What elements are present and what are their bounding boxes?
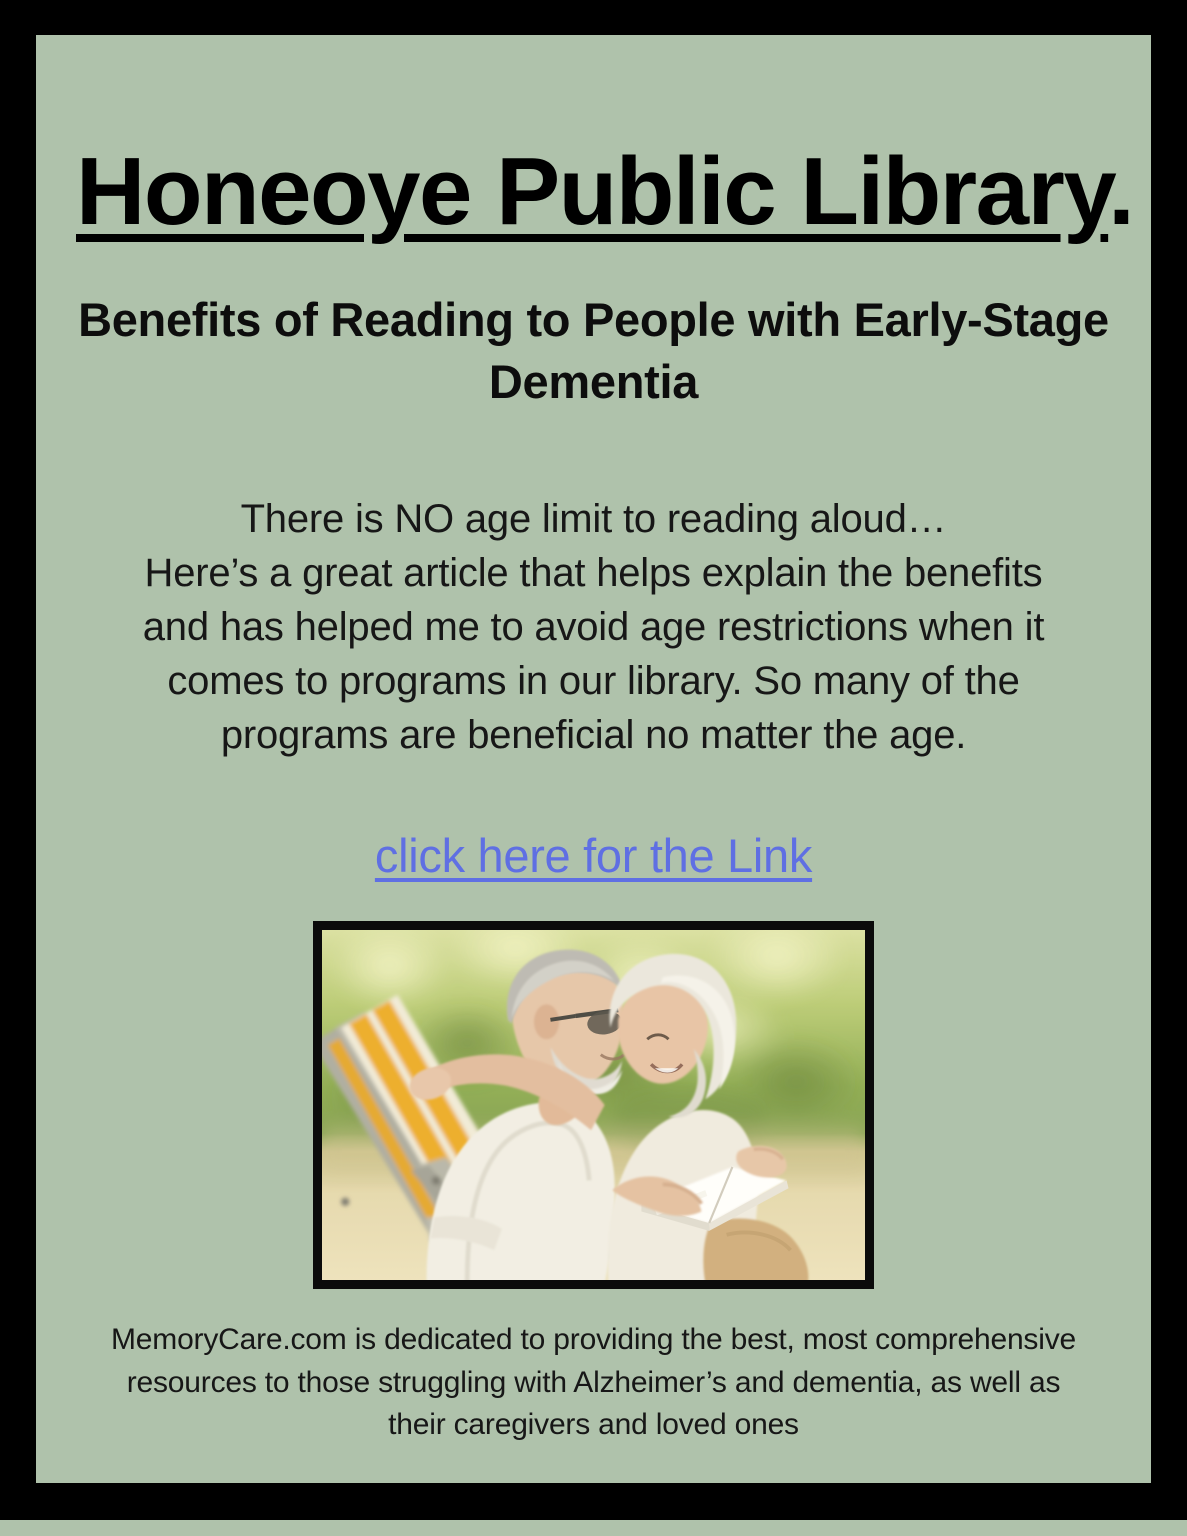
footer-line-3: their caregivers and loved ones [92, 1404, 1095, 1447]
page-title-main: Honeoye Public Library [76, 138, 1108, 245]
bottom-sage-strip [0, 1520, 1187, 1536]
flyer-content-sheet: Honeoye Public Library. Benefits of Read… [36, 35, 1151, 1483]
cta-link-wrapper: click here for the Link [76, 828, 1111, 883]
body-line-2: Here’s a great article that helps explai… [76, 546, 1111, 600]
couple-reading-photo [322, 930, 865, 1280]
footer-attribution: MemoryCare.com is dedicated to providing… [76, 1319, 1111, 1447]
photo-frame [313, 921, 874, 1289]
article-link[interactable]: click here for the Link [375, 828, 812, 883]
page-subtitle: Benefits of Reading to People with Early… [76, 289, 1111, 414]
body-line-5: programs are beneficial no matter the ag… [76, 708, 1111, 762]
body-paragraph: There is NO age limit to reading aloud… … [76, 492, 1111, 762]
page-title-period: . [1108, 138, 1133, 245]
body-line-3: and has helped me to avoid age restricti… [76, 600, 1111, 654]
footer-line-2: resources to those struggling with Alzhe… [92, 1362, 1095, 1405]
page-subtitle-line-1: Benefits of Reading to People with [78, 293, 841, 346]
page-title-wrapper: Honeoye Public Library. [76, 143, 1111, 241]
body-line-1: There is NO age limit to reading aloud… [76, 492, 1111, 546]
photo-wrapper [76, 921, 1111, 1289]
footer-line-1: MemoryCare.com is dedicated to providing… [92, 1319, 1095, 1362]
flyer-page: Honeoye Public Library. Benefits of Read… [0, 0, 1187, 1536]
body-line-4: comes to programs in our library. So man… [76, 654, 1111, 708]
page-title: Honeoye Public Library. [76, 143, 1133, 241]
